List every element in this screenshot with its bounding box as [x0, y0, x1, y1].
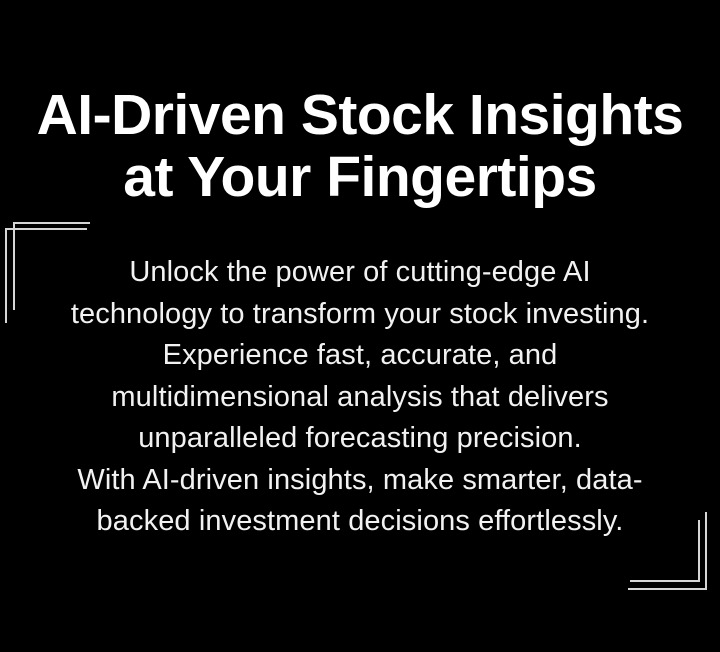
slide-canvas: AI-Driven Stock Insights at Your Fingert…: [0, 0, 720, 652]
body-line-5: unparalleled forecasting precision.: [0, 418, 720, 460]
body-line-1: Unlock the power of cutting-edge AI: [0, 252, 720, 294]
body-copy: Unlock the power of cutting-edge AI tech…: [0, 252, 720, 543]
bracket-inner-horizontal-line: [630, 580, 700, 582]
body-line-7: backed investment decisions effortlessly…: [0, 501, 720, 543]
bracket-inner-horizontal-line: [13, 222, 90, 224]
headline-line-1: AI-Driven Stock Insights: [0, 84, 720, 146]
headline: AI-Driven Stock Insights at Your Fingert…: [0, 84, 720, 208]
body-line-3: Experience fast, accurate, and: [0, 335, 720, 377]
bracket-outer-horizontal-line: [628, 588, 707, 590]
body-line-2: technology to transform your stock inves…: [0, 294, 720, 336]
body-line-6: With AI-driven insights, make smarter, d…: [0, 460, 720, 502]
headline-line-2: at Your Fingertips: [0, 146, 720, 208]
bracket-outer-horizontal-line: [5, 228, 87, 230]
body-line-4: multidimensional analysis that delivers: [0, 377, 720, 419]
